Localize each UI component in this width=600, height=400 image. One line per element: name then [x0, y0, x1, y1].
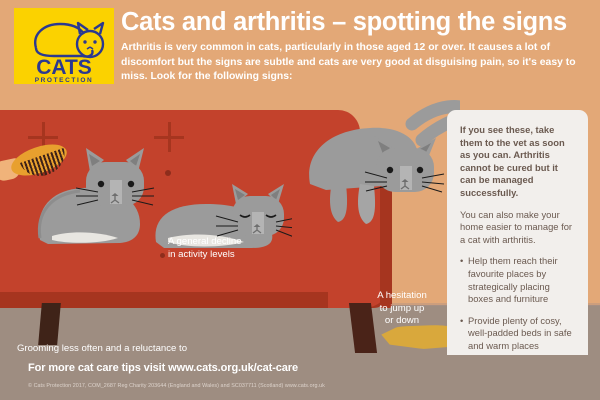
advice-lead-text: If you see these, take them to the vet a…	[460, 124, 576, 200]
sofa-tuft	[28, 136, 58, 139]
footer-band: For more cat care tips visit www.cats.or…	[0, 355, 600, 400]
advice-panel: If you see these, take them to the vet a…	[447, 110, 588, 365]
header-band: CATS PROTECTION Cats and arthritis – spo…	[0, 0, 600, 100]
cats-protection-logo: CATS PROTECTION	[14, 8, 114, 84]
logo-wordmark-protection: PROTECTION	[35, 77, 94, 84]
callout-grooming: Grooming less often and a reluctance to …	[12, 343, 192, 355]
infographic-canvas: CATS PROTECTION Cats and arthritis – spo…	[0, 0, 600, 400]
legal-copyright: © Cats Protection 2017, COM_2687 Reg Cha…	[28, 383, 325, 389]
callout-activity-decline: A general decline in activity levels	[168, 236, 290, 261]
callout-jumping: A hesitation to jump up or down	[362, 290, 442, 328]
logo-artwork: CATS PROTECTION	[14, 8, 114, 84]
advice-bullet: Provide plenty of cosy, well-padded beds…	[460, 315, 576, 353]
intro-paragraph: Arthritis is very common in cats, partic…	[121, 41, 583, 85]
advice-sub-text: You can also make your home easier to ma…	[460, 209, 576, 247]
advice-bullet: Help them reach their favourite places b…	[460, 255, 576, 305]
page-title: Cats and arthritis – spotting the signs	[121, 7, 593, 37]
sofa-tuft	[154, 136, 184, 139]
cat-care-link[interactable]: For more cat care tips visit www.cats.or…	[28, 362, 298, 374]
callout-marker-activity	[160, 253, 165, 258]
cat-draped-over-sofa-arm	[290, 100, 460, 228]
logo-wordmark-cats: CATS	[36, 56, 92, 79]
sofa-leg	[38, 303, 61, 345]
